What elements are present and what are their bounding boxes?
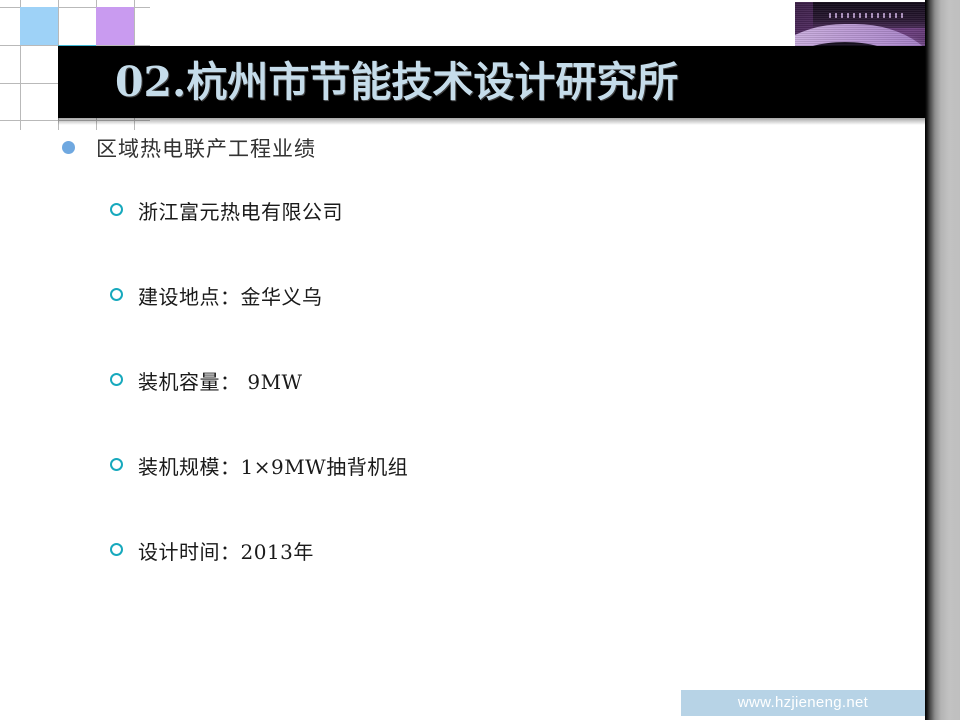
- hollow-circle-bullet-icon: [110, 458, 123, 471]
- footer-url[interactable]: www.hzjieneng.net: [681, 690, 925, 716]
- list-item-label: 浙江富元热电有限公司: [138, 196, 343, 225]
- list-item-label: 装机规模：1×9MW抽背机组: [138, 451, 408, 480]
- slide-edge-shadow: [925, 0, 960, 720]
- hollow-circle-bullet-icon: [110, 203, 123, 216]
- list-item: 装机规模：1×9MW抽背机组: [0, 423, 925, 508]
- footer-bar: www.hzjieneng.net: [681, 690, 925, 716]
- list-item-label: 设计时间：2013年: [138, 536, 314, 565]
- bullet-level1: 区域热电联产工程业绩: [0, 128, 925, 168]
- hollow-circle-bullet-icon: [110, 288, 123, 301]
- list-item: 浙江富元热电有限公司: [0, 168, 925, 253]
- list-item-label: 装机容量： 9MW: [138, 366, 303, 395]
- slide-body: 区域热电联产工程业绩 浙江富元热电有限公司 建设地点：金华义乌 装机容量： 9M…: [0, 128, 925, 593]
- hollow-circle-bullet-icon: [110, 543, 123, 556]
- decor-square-blue: [20, 7, 58, 45]
- presentation-slide: 02.杭州市节能技术设计研究所 区域热电联产工程业绩 浙江富元热电有限公司 建设…: [0, 0, 960, 720]
- filled-circle-bullet-icon: [62, 141, 75, 154]
- list-item-label: 建设地点：金华义乌: [138, 281, 323, 310]
- slide-title: 02.杭州市节能技术设计研究所: [115, 52, 678, 112]
- slide-header-bar: 02.杭州市节能技术设计研究所: [58, 46, 930, 118]
- list-item: 装机容量： 9MW: [0, 338, 925, 423]
- hollow-circle-bullet-icon: [110, 373, 123, 386]
- list-item: 建设地点：金华义乌: [0, 253, 925, 338]
- list-item: 设计时间：2013年: [0, 508, 925, 593]
- bullet-level1-label: 区域热电联产工程业绩: [96, 133, 316, 163]
- decor-square-purple: [96, 7, 134, 45]
- bullet-sublist: 浙江富元热电有限公司 建设地点：金华义乌 装机容量： 9MW 装机规模：1×9M…: [0, 168, 925, 593]
